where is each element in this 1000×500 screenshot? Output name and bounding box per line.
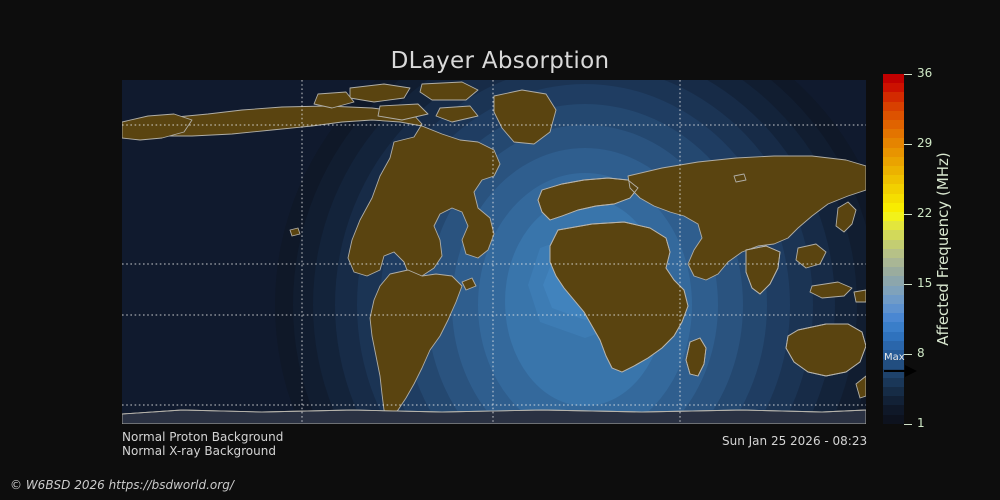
colorbar-segment <box>883 157 904 166</box>
colorbar-segment <box>883 230 904 239</box>
colorbar-segment <box>883 258 904 267</box>
colorbar-tick-line <box>904 214 912 215</box>
colorbar-axis-label-text: Affected Frequency (MHz) <box>934 152 952 346</box>
colorbar-tick-label: 1 <box>917 416 925 430</box>
colorbar-segment <box>883 102 904 111</box>
colorbar-segment <box>883 276 904 285</box>
colorbar-segment <box>883 378 904 387</box>
map-clip <box>122 80 866 424</box>
colorbar-segment <box>883 341 904 350</box>
colorbar-segment <box>883 415 904 424</box>
colorbar-segment <box>883 83 904 92</box>
colorbar-segment <box>883 405 904 414</box>
colorbar-segment <box>883 212 904 221</box>
colorbar-segment <box>883 304 904 313</box>
xray-background-status: Normal X-ray Background <box>122 444 276 458</box>
colorbar-tick-line <box>904 144 912 145</box>
page-title: DLayer Absorption <box>0 48 1000 74</box>
colorbar-segment <box>883 138 904 147</box>
colorbar-segment <box>883 396 904 405</box>
colorbar-segment <box>883 175 904 184</box>
dlayer-absorption-map-page: DLayer Absorption <box>0 0 1000 500</box>
colorbar-segment <box>883 194 904 203</box>
colorbar-segment <box>883 313 904 322</box>
colorbar-tick-line <box>904 74 912 75</box>
graticule <box>122 80 866 424</box>
colorbar-segment <box>883 120 904 129</box>
colorbar-segment <box>883 295 904 304</box>
colorbar-tick-line <box>904 424 912 425</box>
colorbar-segment <box>883 203 904 212</box>
colorbar-segment <box>883 240 904 249</box>
colorbar-segment <box>883 249 904 258</box>
colorbar-segment <box>883 286 904 295</box>
max-marker-label: Max <box>884 352 905 363</box>
timestamp: Sun Jan 25 2026 - 08:23 <box>722 434 867 448</box>
colorbar-segment <box>883 221 904 230</box>
colorbar-segment <box>883 322 904 331</box>
copyright-notice: © W6BSD 2026 https://bsdworld.org/ <box>10 478 234 492</box>
max-marker: Max <box>883 352 923 378</box>
colorbar-axis-label: Affected Frequency (MHz) <box>930 76 956 422</box>
colorbar-tick-line <box>904 284 912 285</box>
colorbar-segment <box>883 267 904 276</box>
colorbar-segment <box>883 92 904 101</box>
colorbar-segment <box>883 387 904 396</box>
colorbar-segment <box>883 166 904 175</box>
world-map-panel[interactable] <box>122 80 866 424</box>
colorbar-segment <box>883 332 904 341</box>
colorbar-segment <box>883 148 904 157</box>
colorbar-segment <box>883 129 904 138</box>
proton-background-status: Normal Proton Background <box>122 430 283 444</box>
colorbar-segment <box>883 74 904 83</box>
colorbar-segment <box>883 184 904 193</box>
max-arrow-icon <box>883 364 921 378</box>
colorbar-segment <box>883 111 904 120</box>
